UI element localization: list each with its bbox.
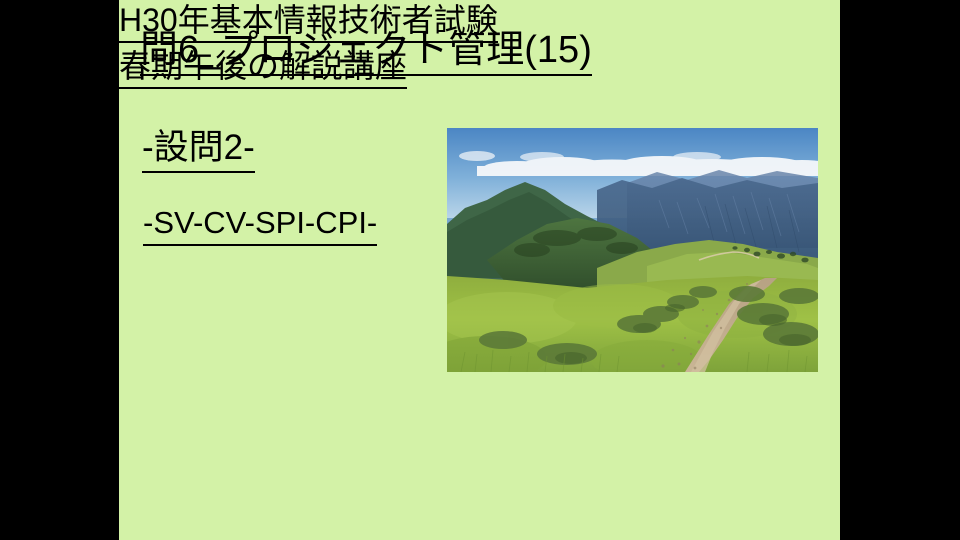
slide-screen: 問6_プロジェクト管理(15) -設問2- -SV-CV-SPI-CPI- H3… xyxy=(0,0,960,540)
letterbox-right xyxy=(840,0,960,540)
slide-subtitle: -設問2- xyxy=(142,126,255,173)
presentation-slide: 問6_プロジェクト管理(15) -設問2- -SV-CV-SPI-CPI- H3… xyxy=(119,0,840,540)
slide-title: 問6_プロジェクト管理(15) xyxy=(140,27,592,76)
slide-topics: -SV-CV-SPI-CPI- xyxy=(143,203,377,246)
mountain-landscape-photo xyxy=(447,128,818,372)
letterbox-left xyxy=(0,0,119,540)
landscape-illustration xyxy=(447,128,818,372)
